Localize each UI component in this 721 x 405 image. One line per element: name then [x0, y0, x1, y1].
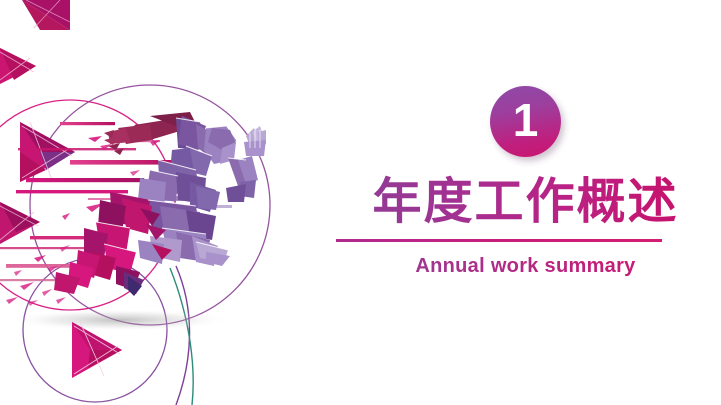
triangle-left-upper: [0, 48, 36, 84]
runner-figure: [54, 112, 266, 296]
triangle-left-middle: [20, 122, 75, 182]
title-divider: [336, 239, 662, 242]
running-athlete-illustration: [0, 0, 330, 405]
triangle-top-left: [22, 0, 70, 30]
section-number-badge-wrap: 1: [330, 86, 721, 162]
figure-shadow: [10, 309, 230, 331]
section-number-label: 1: [490, 86, 561, 157]
section-number-badge: 1: [490, 86, 561, 157]
page-subtitle: Annual work summary: [330, 251, 721, 281]
slide-canvas: 1 年度工作概述 Annual work summary: [0, 0, 721, 405]
slide-content: 1 年度工作概述 Annual work summary: [330, 0, 721, 405]
page-title: 年度工作概述: [330, 172, 721, 232]
